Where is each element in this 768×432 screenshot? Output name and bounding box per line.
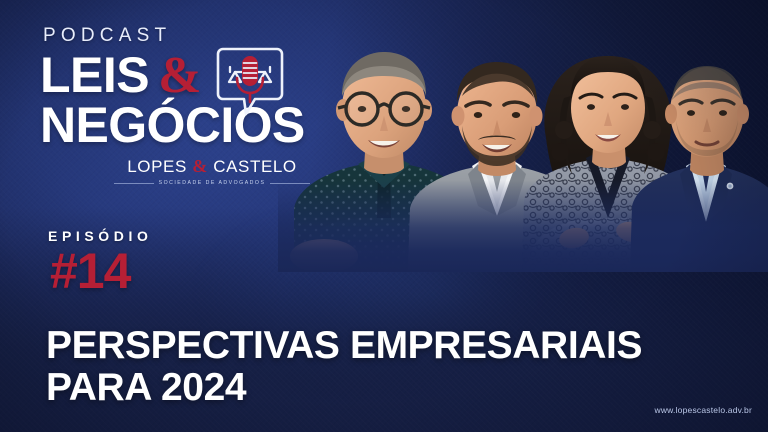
divider-right <box>270 183 310 184</box>
firm-name-castelo: CASTELO <box>213 157 297 176</box>
law-firm-subtitle: SOCIEDADE DE ADVOGADOS <box>159 180 266 186</box>
brand-title-leis: LEIS <box>40 52 149 100</box>
episode-block: EPISÓDIO #14 <box>48 228 152 296</box>
website-url: www.lopescastelo.adv.br <box>654 405 752 415</box>
podcast-label: PODCAST <box>43 26 310 45</box>
episode-number: #14 <box>50 246 152 296</box>
firm-name-ampersand: & <box>192 156 208 176</box>
divider-left <box>114 183 154 184</box>
microphone-scales-speech-bubble-icon <box>213 44 287 125</box>
brand-ampersand: & <box>158 52 201 100</box>
episode-title: PERSPECTIVAS EMPRESARIAIS PARA 2024 <box>46 325 746 409</box>
episode-title-line-2: PARA 2024 <box>46 367 746 409</box>
episode-label: EPISÓDIO <box>48 228 152 244</box>
podcast-cover-art: PODCAST LEIS & NEGÓCIOS LOPES & CASTELO … <box>0 0 768 432</box>
episode-title-line-1: PERSPECTIVAS EMPRESARIAIS <box>46 325 746 367</box>
law-firm-subtitle-row: SOCIEDADE DE ADVOGADOS <box>114 180 310 186</box>
firm-name-lopes: LOPES <box>127 157 187 176</box>
law-firm-lockup: LOPES & CASTELO SOCIEDADE DE ADVOGADOS <box>114 156 310 186</box>
law-firm-name: LOPES & CASTELO <box>114 156 310 177</box>
